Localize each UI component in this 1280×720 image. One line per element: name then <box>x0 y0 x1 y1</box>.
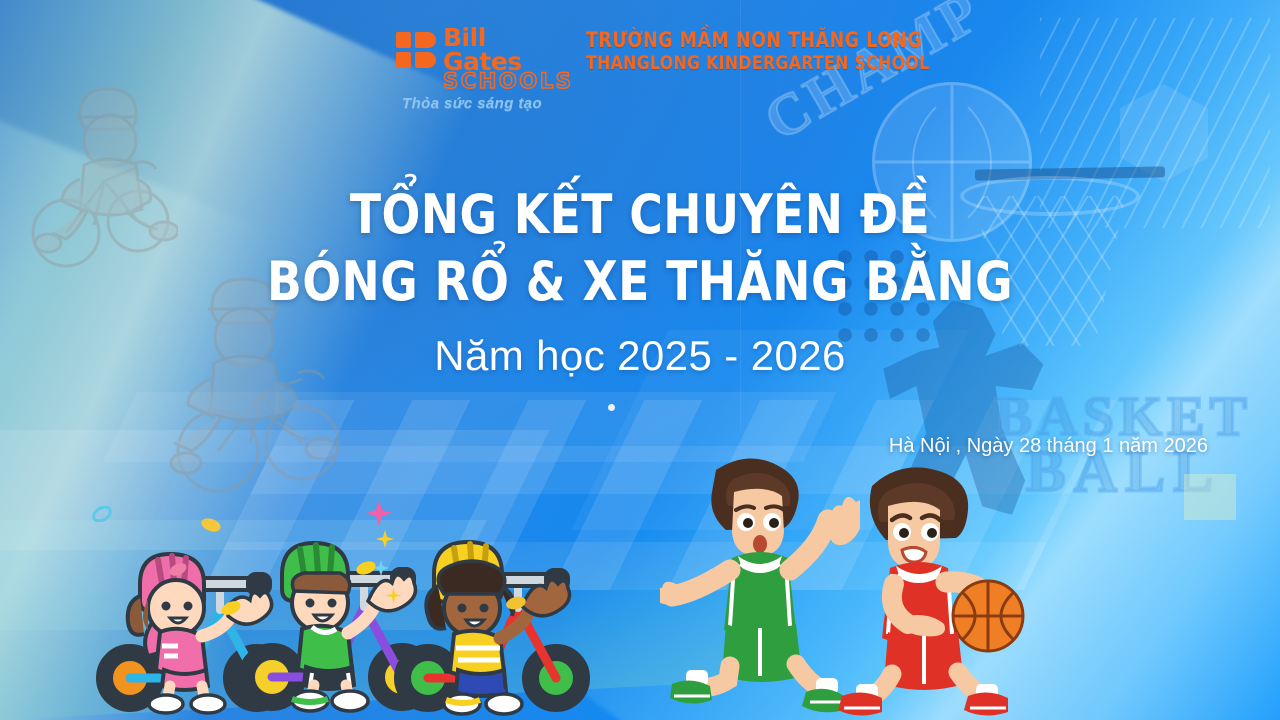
leaf-yellow-icon <box>505 595 527 611</box>
school-name-block: TRƯỜNG MẦM NON THĂNG LONG THANGLONG KIND… <box>586 29 959 74</box>
title-line-2: BÓNG RỔ & XE THĂNG BẰNG <box>38 253 1241 310</box>
logo-brand-name: Bill Gates <box>443 26 572 74</box>
subtitle-school-year: Năm học 2025 - 2026 <box>0 332 1280 380</box>
title-line-1: TỔNG KẾT CHUYÊN ĐỀ <box>38 186 1241 243</box>
presentation-slide: CHAMP BASKET BALL <box>0 0 1280 720</box>
hoop-bar <box>975 166 1165 180</box>
basketball-player-red <box>836 458 1036 720</box>
confetti-dot <box>608 404 615 411</box>
sparkle-yellow-icon <box>376 530 394 548</box>
leaf-yellow-icon <box>355 560 377 576</box>
logo-schools-word: SCHOOLS <box>443 71 572 92</box>
school-name-vietnamese: TRƯỜNG MẦM NON THĂNG LONG <box>586 29 930 53</box>
leaf-blue-icon <box>92 506 112 522</box>
hexagon-shape <box>1120 84 1208 182</box>
date-place-text: Hà Nội , Ngày 28 tháng 1 năm 2026 <box>889 435 1208 458</box>
school-name-english: THANGLONG KINDERGARTEN SCHOOL <box>586 53 930 74</box>
title-block: TỔNG KẾT CHUYÊN ĐỀ BÓNG RỔ & XE THĂNG BẰ… <box>0 186 1280 380</box>
accent-square <box>1184 474 1236 520</box>
seam-line <box>740 0 741 430</box>
window-squares-icon <box>396 32 436 68</box>
logo-tagline: Thỏa sức sáng tạo <box>402 95 572 112</box>
leaf-yellow-icon <box>200 517 222 533</box>
sparkle-yellow-icon <box>385 587 402 604</box>
kid-balance-bike-yellow <box>388 498 603 716</box>
leaf-yellow-icon <box>220 600 242 616</box>
basketball-player-green <box>660 452 860 718</box>
sparkle-pink-icon <box>366 500 392 526</box>
leaf-pink-icon <box>168 562 188 577</box>
header: Bill Gates SCHOOLS Thỏa sức sáng tạo TRƯ… <box>396 26 959 112</box>
school-logo: Bill Gates SCHOOLS Thỏa sức sáng tạo <box>396 26 572 112</box>
